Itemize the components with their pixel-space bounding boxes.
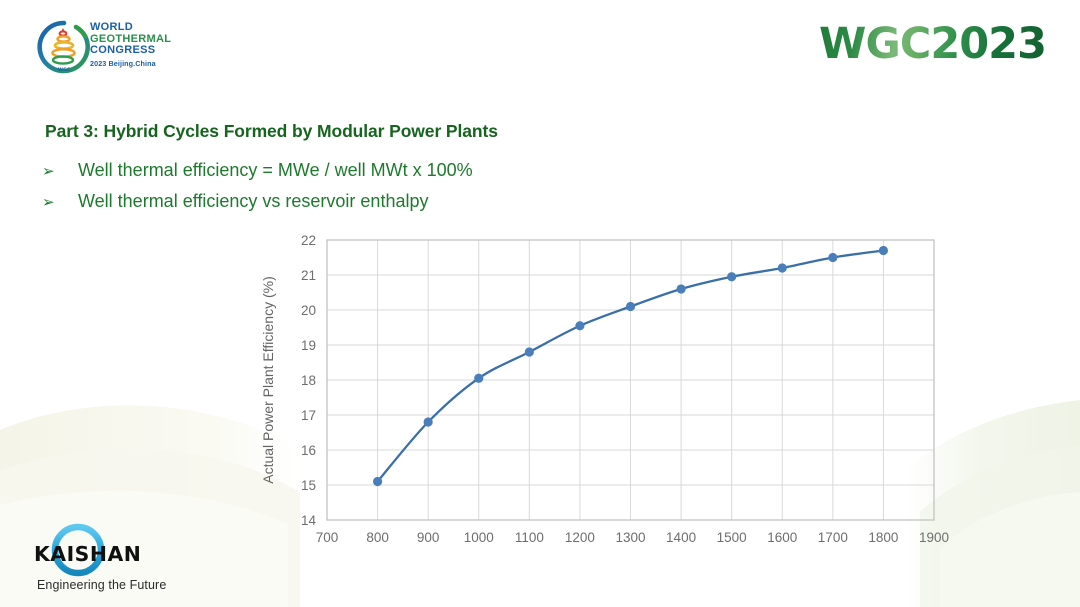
list-item: ➢ Well thermal efficiency = MWe / well M… (42, 157, 473, 184)
wgc-logo: WGC WORLD GEOTHERMAL CONGRESS 2023 Beiji… (36, 17, 166, 79)
chart-data-point (676, 284, 685, 293)
svg-text:WGC: WGC (58, 67, 71, 73)
chart-data-point (575, 321, 584, 330)
chart-xtick-label: 1200 (565, 530, 595, 545)
bullet-text: Well thermal efficiency vs reservoir ent… (78, 188, 428, 214)
chart-data-point (525, 347, 534, 356)
wgc-logo-line3: CONGRESS (90, 45, 171, 57)
kaishan-tagline: Engineering the Future (37, 578, 166, 592)
bullet-text: Well thermal efficiency = MWe / well MWt… (78, 157, 473, 183)
chart-xtick-labels: 7008009001000110012001300140015001600170… (316, 530, 949, 545)
wgc2023-wordmark: WGC2023 (819, 19, 1046, 69)
chart-xtick-label: 1600 (767, 530, 797, 545)
chart-data-point (778, 263, 787, 272)
wgc-logo-text: WORLD GEOTHERMAL CONGRESS 2023 Beijing.C… (90, 22, 171, 68)
chart-xtick-label: 1000 (464, 530, 494, 545)
kaishan-wordmark: KAISHAN (34, 542, 141, 566)
chart-xtick-label: 1100 (515, 530, 544, 545)
chart-xtick-label: 1400 (666, 530, 696, 545)
chart-gridlines (327, 240, 934, 520)
chart-ytick-label: 17 (301, 408, 316, 423)
chart-xtick-label: 700 (316, 530, 339, 545)
chart-xtick-label: 900 (417, 530, 440, 545)
chart-ytick-label: 22 (301, 233, 316, 248)
wgc-logo-line1: WORLD (90, 22, 171, 34)
bullet-list: ➢ Well thermal efficiency = MWe / well M… (42, 157, 473, 219)
arrow-bullet-icon: ➢ (42, 189, 78, 215)
chart-xtick-label: 1300 (615, 530, 645, 545)
chart-xtick-label: 1800 (868, 530, 898, 545)
page-title: Part 3: Hybrid Cycles Formed by Modular … (45, 121, 498, 142)
chart-ytick-label: 21 (301, 268, 316, 283)
chart-data-point (828, 253, 837, 262)
chart-ytick-label: 14 (301, 513, 317, 528)
chart-ytick-label: 16 (301, 443, 316, 458)
kaishan-logo: KAISHAN Engineering the Future (18, 520, 218, 600)
chart-ytick-label: 18 (301, 373, 316, 388)
chart-data-point (474, 374, 483, 383)
chart-data-point (424, 417, 433, 426)
chart-ytick-labels: 141516171819202122 (301, 233, 317, 528)
wgc-logo-subtitle: 2023 Beijing.China (90, 59, 171, 68)
wgc-spiral-ring-icon: WGC (36, 19, 92, 75)
chart-ytick-label: 20 (301, 303, 316, 318)
chart-xtick-label: 1500 (717, 530, 747, 545)
chart-xtick-label: 800 (366, 530, 389, 545)
list-item: ➢ Well thermal efficiency vs reservoir e… (42, 188, 473, 215)
chart-ytick-label: 15 (301, 478, 316, 493)
chart-data-point (373, 477, 382, 486)
slide-canvas: WGC WORLD GEOTHERMAL CONGRESS 2023 Beiji… (0, 0, 1080, 607)
chart-xtick-label: 1900 (919, 530, 949, 545)
chart-data-point (727, 272, 736, 281)
efficiency-line-chart: 7008009001000110012001300140015001600170… (255, 228, 955, 553)
arrow-bullet-icon: ➢ (42, 158, 78, 184)
chart-data-point (879, 246, 888, 255)
chart-svg: 7008009001000110012001300140015001600170… (255, 228, 955, 553)
chart-xtick-label: 1700 (818, 530, 848, 545)
chart-data-point (626, 302, 635, 311)
chart-ytick-label: 19 (301, 338, 316, 353)
chart-y-axis-title: Actual Power Plant Efficiency (%) (260, 276, 276, 484)
